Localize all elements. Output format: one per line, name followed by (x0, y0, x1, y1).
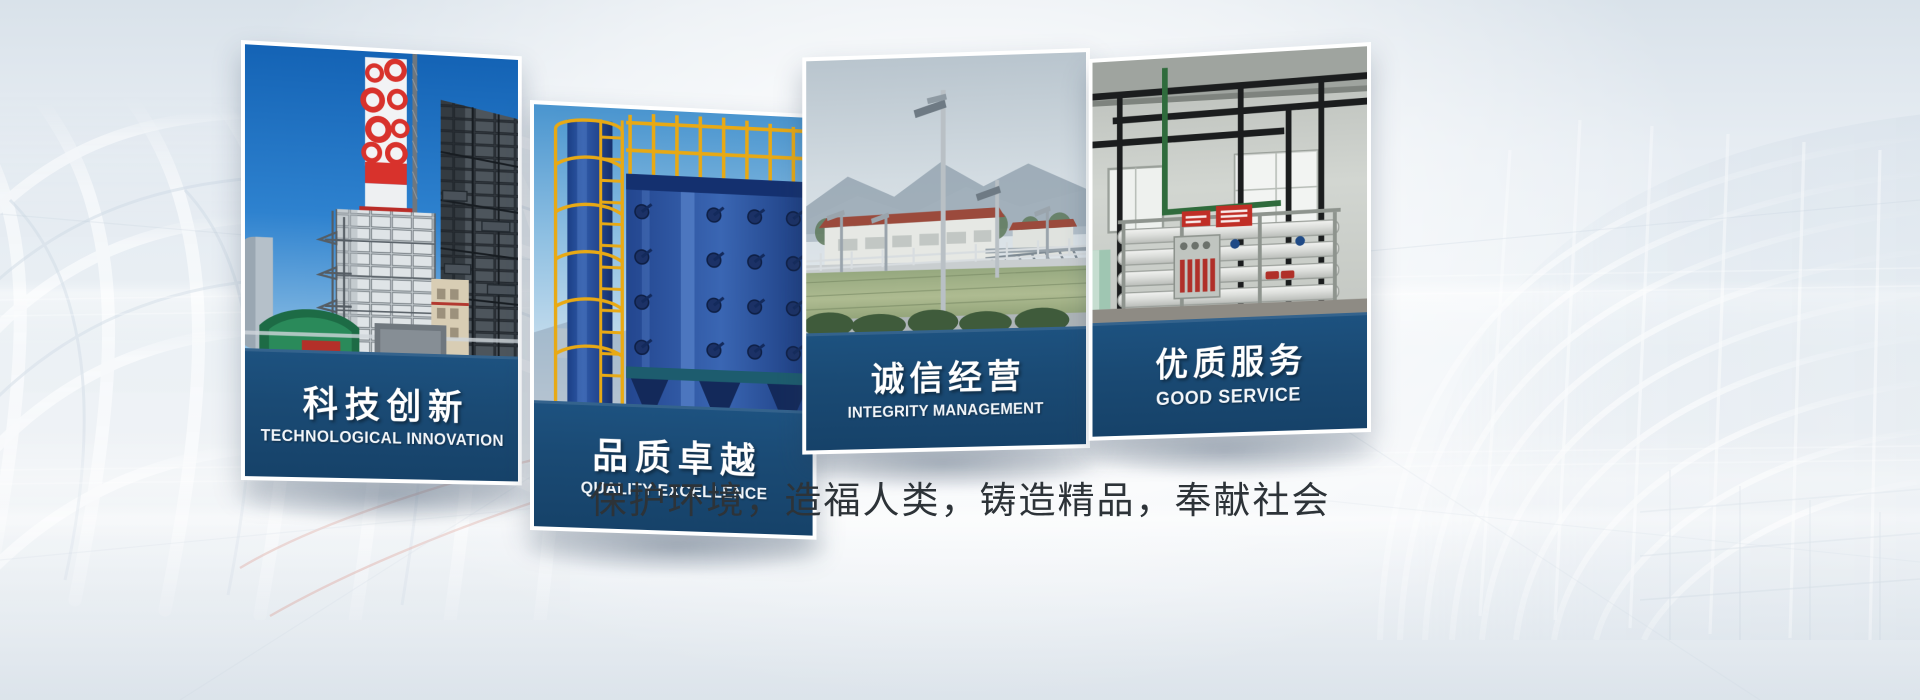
card-plate: 诚信经营 INTEGRITY MANAGEMENT (806, 326, 1086, 450)
photo-reverse-osmosis-system (1093, 46, 1368, 323)
card-row: 科技创新 TECHNOLOGICAL INNOVATION (0, 0, 1920, 700)
photo-industrial-chimney (245, 44, 518, 356)
card-inner: 优质服务 GOOD SERVICE (1093, 46, 1368, 436)
card-title-cn: 科技创新 (296, 384, 469, 427)
banner-tagline: 保护环境，造福人类，铸造精品，奉献社会 (0, 470, 1920, 524)
card-plate: 科技创新 TECHNOLOGICAL INNOVATION (245, 348, 518, 481)
card-plate: 优质服务 GOOD SERVICE (1093, 312, 1368, 437)
card-title-cn: 优质服务 (1150, 343, 1307, 385)
feature-card-technological-innovation[interactable]: 科技创新 TECHNOLOGICAL INNOVATION (241, 40, 522, 485)
card-title-cn: 诚信经营 (866, 359, 1026, 400)
photo-dust-collector (534, 104, 813, 411)
feature-card-good-service[interactable]: 优质服务 GOOD SERVICE (1089, 42, 1371, 441)
photo-wastewater-treatment-plant (806, 52, 1086, 333)
banner-stage: 科技创新 TECHNOLOGICAL INNOVATION (0, 0, 1920, 700)
card-title-en: GOOD SERVICE (1156, 384, 1301, 411)
card-inner: 诚信经营 INTEGRITY MANAGEMENT (806, 52, 1086, 450)
feature-card-integrity-management[interactable]: 诚信经营 INTEGRITY MANAGEMENT (802, 48, 1090, 455)
card-title-en: TECHNOLOGICAL INNOVATION (260, 427, 503, 451)
card-title-en: INTEGRITY MANAGEMENT (848, 400, 1044, 423)
card-inner: 科技创新 TECHNOLOGICAL INNOVATION (245, 44, 518, 481)
